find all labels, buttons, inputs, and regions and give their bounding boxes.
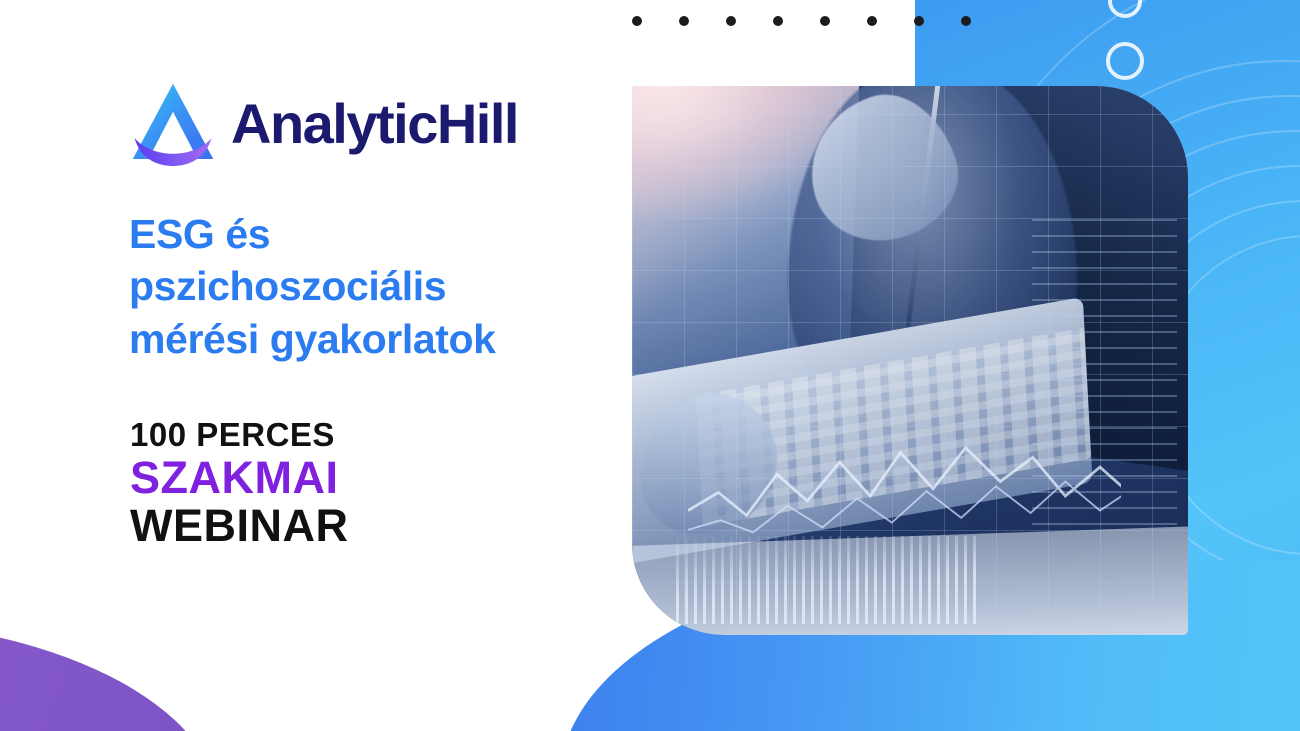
headline-line-1: ESG és	[129, 208, 629, 260]
grid-dot	[820, 16, 830, 26]
content-column: AnalyticHill ESG és pszichoszociális mér…	[129, 0, 629, 731]
grid-dot	[867, 16, 877, 26]
grid-dot	[679, 16, 689, 26]
headline-line-3: mérési gyakorlatok	[129, 313, 629, 365]
analytichill-triangle-logo-icon	[129, 82, 217, 166]
grid-dot	[773, 16, 783, 26]
ring-outline-icon	[1106, 42, 1144, 80]
webinar-banner: AnalyticHill ESG és pszichoszociális mér…	[0, 0, 1300, 731]
event-format: WEBINAR	[130, 503, 550, 550]
event-subtitle: 100 PERCES SZAKMAI WEBINAR	[130, 418, 550, 550]
brand-logo[interactable]: AnalyticHill	[129, 82, 518, 166]
dot-grid-pattern	[632, 0, 1032, 30]
warm-light-flare	[632, 86, 843, 218]
event-duration: 100 PERCES	[130, 418, 550, 452]
sparkline-overlay	[688, 426, 1122, 547]
grid-dot	[914, 16, 924, 26]
bar-chart-overlay	[676, 536, 976, 624]
grid-dot	[961, 16, 971, 26]
page-title: ESG és pszichoszociális mérési gyakorlat…	[129, 208, 629, 365]
grid-dot	[726, 16, 736, 26]
grid-dot	[632, 16, 642, 26]
event-kind: SZAKMAI	[130, 455, 550, 502]
headline-line-2: pszichoszociális	[129, 260, 629, 312]
hero-image	[632, 86, 1188, 635]
brand-wordmark: AnalyticHill	[231, 96, 518, 152]
